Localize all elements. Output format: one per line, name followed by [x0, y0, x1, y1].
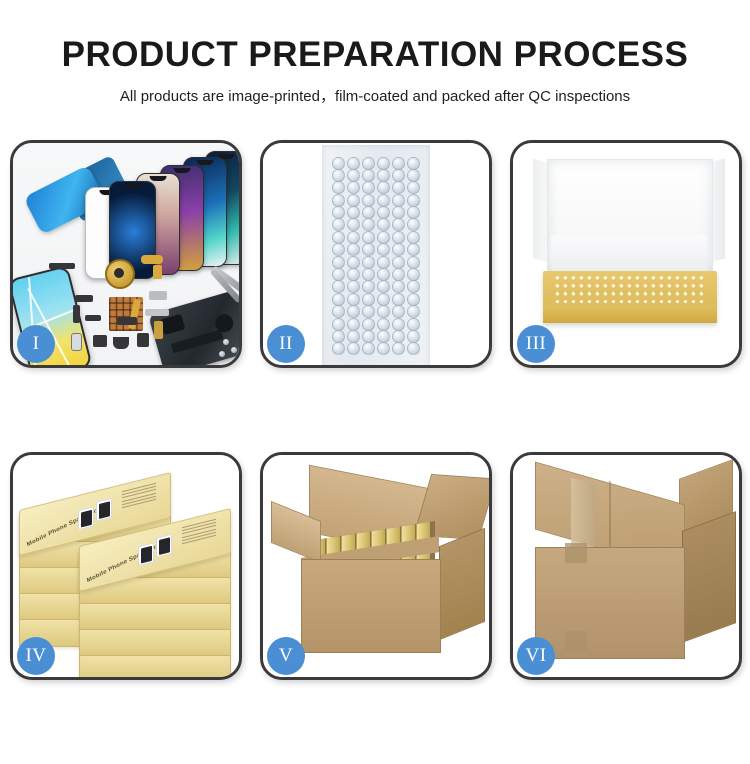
small-part-f-icon	[117, 317, 137, 325]
bubble-icon	[392, 194, 405, 207]
bubble-icon	[392, 268, 405, 281]
bubble-icon	[362, 293, 375, 306]
bubble-icon	[377, 181, 390, 194]
carton-right-side-icon	[439, 528, 485, 641]
bubble-icon	[392, 330, 405, 343]
box-phone-image-b1	[78, 506, 94, 530]
bubble-icon	[377, 268, 390, 281]
bubble-icon	[347, 194, 360, 207]
speaker-part-icon	[113, 337, 129, 349]
bubble-icon	[362, 157, 375, 170]
product-preparation-infographic: PRODUCT PREPARATION PROCESS All products…	[0, 0, 750, 750]
bubble-icon	[392, 231, 405, 244]
bubble-icon	[362, 280, 375, 293]
bubble-icon	[407, 268, 420, 281]
screw-1-icon	[223, 339, 229, 345]
bubble-icon	[347, 305, 360, 318]
bubble-icon	[332, 157, 345, 170]
small-part-e-icon	[93, 335, 107, 347]
bubble-icon	[362, 268, 375, 281]
bubble-icon	[407, 194, 420, 207]
bubble-icon	[392, 181, 405, 194]
bubble-icon	[407, 169, 420, 182]
bubble-icon	[347, 231, 360, 244]
bubble-icon	[362, 194, 375, 207]
bubble-icon	[407, 231, 420, 244]
bubble-icon	[407, 243, 420, 256]
bubble-icon	[362, 218, 375, 231]
bubble-icon	[332, 181, 345, 194]
bubble-icon	[392, 218, 405, 231]
screw-2-icon	[231, 347, 237, 353]
bubble-icon	[332, 256, 345, 269]
bubble-icon	[392, 280, 405, 293]
bubble-icon	[332, 231, 345, 244]
bubble-icon	[392, 206, 405, 219]
step-panel-1[interactable]: I	[10, 140, 242, 368]
bubble-icon	[347, 280, 360, 293]
bubble-icon	[362, 243, 375, 256]
bubble-icon	[407, 293, 420, 306]
stacked-box-r3	[79, 603, 231, 631]
bubble-icon	[347, 330, 360, 343]
bubble-icon	[347, 268, 360, 281]
bubble-icon	[332, 342, 345, 355]
bubble-icon	[392, 342, 405, 355]
camera-part-icon	[137, 333, 149, 347]
step-panel-5[interactable]: V	[260, 452, 492, 680]
bubble-icon	[347, 243, 360, 256]
bubble-icon	[392, 318, 405, 331]
bubble-icon	[332, 218, 345, 231]
small-part-a-icon	[75, 295, 93, 302]
bubble-icon	[347, 181, 360, 194]
bubble-icon	[347, 318, 360, 331]
box-phone-image-b2	[96, 498, 112, 522]
tape-front-lower-icon	[565, 631, 587, 651]
small-part-c-icon	[85, 315, 101, 321]
step-panel-2[interactable]: II	[260, 140, 492, 368]
vibration-coil-icon	[105, 259, 135, 289]
bubble-icon	[407, 342, 420, 355]
box-phone-image-f2	[156, 534, 172, 558]
bubble-icon	[392, 293, 405, 306]
stacked-box-r5	[79, 655, 231, 677]
flex-cable-4-icon	[154, 321, 163, 339]
bubble-icon	[392, 256, 405, 269]
sealed-carton-side-icon	[682, 511, 736, 643]
step-badge-5: V	[267, 637, 305, 675]
shield-part-icon	[149, 291, 167, 300]
bubble-icon	[407, 218, 420, 231]
small-part-d-icon	[71, 333, 82, 351]
bubble-icon	[377, 157, 390, 170]
bubble-icon	[332, 243, 345, 256]
bubble-icon	[332, 206, 345, 219]
box-phone-image-f1	[138, 542, 154, 566]
bubble-icon	[392, 157, 405, 170]
bubble-icon	[407, 181, 420, 194]
bubble-icon	[362, 231, 375, 244]
bubble-icon	[377, 293, 390, 306]
bubble-icon	[377, 231, 390, 244]
bubble-icon	[362, 342, 375, 355]
small-part-b-icon	[73, 305, 80, 323]
bubble-icon	[407, 330, 420, 343]
step-badge-4: IV	[17, 637, 55, 675]
page-title: PRODUCT PREPARATION PROCESS	[0, 0, 750, 74]
bubble-icon	[362, 206, 375, 219]
bubble-icon	[347, 342, 360, 355]
screw-3-icon	[219, 351, 225, 357]
bubble-icon	[332, 169, 345, 182]
bubble-icon	[347, 169, 360, 182]
step-panel-4[interactable]: Mobile Phone Spare Parts Mobile	[10, 452, 242, 680]
box-front-lip-icon	[543, 305, 717, 323]
step-badge-2: II	[267, 325, 305, 363]
bubble-icon	[407, 157, 420, 170]
connector-part-icon	[49, 263, 75, 269]
bubble-icon	[332, 305, 345, 318]
step-panel-6[interactable]: VI	[510, 452, 742, 680]
yellow-box-tray-icon	[543, 271, 717, 323]
bubble-icon	[377, 169, 390, 182]
bubble-icon	[362, 169, 375, 182]
bubble-icon	[377, 305, 390, 318]
bubble-icon	[407, 305, 420, 318]
tape-front-upper-icon	[565, 543, 587, 563]
bracket-part-icon	[145, 309, 169, 316]
step-badge-3: III	[517, 325, 555, 363]
sealed-carton-front-icon	[535, 547, 685, 659]
header: PRODUCT PREPARATION PROCESS All products…	[0, 0, 750, 106]
bubble-icon	[347, 206, 360, 219]
flex-cable-1-icon	[141, 255, 163, 264]
bubble-icon	[377, 218, 390, 231]
bubble-icon	[362, 256, 375, 269]
bubble-icon	[392, 169, 405, 182]
bubble-icon	[332, 318, 345, 331]
bubble-icon	[377, 194, 390, 207]
bubble-icon	[362, 318, 375, 331]
bubble-icon	[347, 218, 360, 231]
bubble-wrapped-contents-icon	[555, 275, 705, 303]
bubble-icon	[407, 256, 420, 269]
flex-cable-2-icon	[153, 265, 162, 279]
steps-grid: I II	[10, 140, 742, 764]
bubble-icon	[407, 280, 420, 293]
bubble-icon	[377, 330, 390, 343]
bubble-icon	[332, 268, 345, 281]
carton-front-face-icon	[301, 559, 441, 653]
bubble-icon	[332, 293, 345, 306]
bubble-grid-icon	[331, 157, 421, 355]
box-spec-lines-front	[182, 519, 216, 547]
bubble-icon	[362, 181, 375, 194]
bubble-icon	[347, 157, 360, 170]
bubble-icon	[377, 280, 390, 293]
steps-row-top: I II	[10, 140, 742, 368]
box-spec-lines-back	[122, 483, 156, 511]
bubble-icon	[392, 243, 405, 256]
bubble-icon	[407, 318, 420, 331]
bubble-icon	[377, 243, 390, 256]
bubble-icon	[332, 194, 345, 207]
bubble-icon	[407, 206, 420, 219]
bubble-icon	[362, 330, 375, 343]
step-badge-1: I	[17, 325, 55, 363]
page-subtitle: All products are image-printed，film-coat…	[0, 74, 750, 106]
bubble-icon	[362, 305, 375, 318]
step-badge-6: VI	[517, 637, 555, 675]
stacked-box-r4	[79, 629, 231, 657]
bubble-icon	[377, 342, 390, 355]
bubble-icon	[377, 256, 390, 269]
step-panel-3[interactable]: III	[510, 140, 742, 368]
bubble-icon	[377, 206, 390, 219]
bubble-icon	[347, 293, 360, 306]
bubble-icon	[392, 305, 405, 318]
bubble-icon	[332, 280, 345, 293]
bubble-icon	[332, 330, 345, 343]
bubble-icon	[377, 318, 390, 331]
bubble-icon	[347, 256, 360, 269]
carton-top-seam-icon	[609, 481, 611, 554]
steps-row-bottom: Mobile Phone Spare Parts Mobile	[10, 452, 742, 680]
